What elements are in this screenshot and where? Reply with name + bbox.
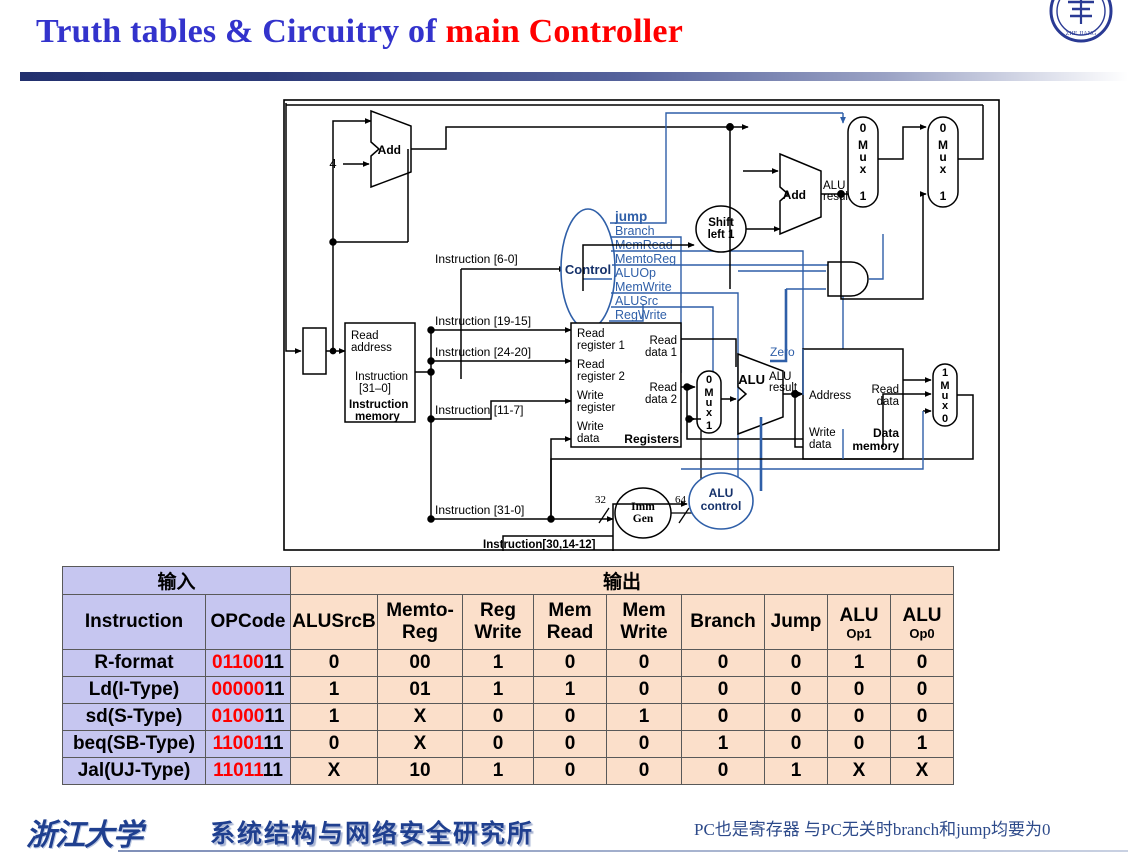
wb-mux-port-1: 1	[942, 367, 948, 379]
cell-aluop1: X	[828, 758, 891, 785]
alu-zero-label: Zero	[770, 345, 795, 359]
opcode-black: 11	[264, 706, 284, 727]
alu-label: ALU	[738, 372, 765, 387]
cell-memwrite: 1	[607, 704, 682, 731]
cell-memtoreg: 10	[378, 758, 463, 785]
opcode-red: 11001	[213, 733, 264, 754]
cell-memtoreg: X	[378, 731, 463, 758]
cell-memread: 0	[534, 650, 607, 677]
cell-memwrite: 0	[607, 677, 682, 704]
cell-jump: 0	[765, 677, 828, 704]
bus-label-instr-31-0: Instruction [31-0]	[435, 503, 524, 517]
cell-instruction: Jal(UJ-Type)	[63, 758, 206, 785]
branch-and-gate	[828, 262, 868, 296]
imm-gen-block: ImmGen	[615, 488, 671, 538]
dmem-address-label: Address	[809, 390, 851, 402]
bus-label-instr-6-0: Instruction [6-0]	[435, 252, 518, 266]
table-group-header-row: 输入 输出	[63, 567, 954, 595]
mux-jump-port-0-label: 0	[940, 121, 947, 135]
dmem-read-data-label: Readdata	[872, 384, 900, 408]
cell-instruction: Ld(I-Type)	[63, 677, 206, 704]
constant-four-label: 4	[329, 156, 336, 171]
page-title-highlight: main Controller	[445, 13, 683, 50]
svg-text:ZHE JIANG: ZHE JIANG	[1066, 31, 1097, 37]
zhejiang-university-seal-icon: ZHE JIANG	[1048, 0, 1114, 44]
alusrc-mux-port-1: 1	[706, 420, 712, 432]
signal-memtoreg: MemtoReg	[615, 252, 676, 266]
table-row: beq(SB-Type) 1100111 0 X 0 0 0 1 0 0 1	[63, 731, 954, 758]
aluop0-main: ALU	[902, 605, 941, 626]
cell-aluop0: 1	[891, 731, 954, 758]
col-header-regwrite: RegWrite	[463, 595, 534, 650]
cell-memread: 0	[534, 704, 607, 731]
col-header-aluop1: ALU Op1	[828, 595, 891, 650]
cell-memwrite: 0	[607, 731, 682, 758]
cell-aluop1: 1	[828, 650, 891, 677]
wb-mux-port-0: 0	[942, 413, 948, 425]
col-header-alusrcb: ALUSrcB	[291, 595, 378, 650]
page-title-part1: Truth tables & Circuitry of	[36, 13, 445, 50]
imem-label: Instructionmemory	[349, 399, 408, 423]
table-column-header-row: Instruction OPCode ALUSrcB Memto-Reg Reg…	[63, 595, 954, 650]
mux-port-1-label: 1	[860, 189, 867, 203]
datapath-diagram: Add 4 Readaddress Instruction[31–0] Inst…	[283, 99, 1000, 551]
cell-jump: 0	[765, 704, 828, 731]
bus-label-instr-24-20: Instruction [24-20]	[435, 345, 531, 359]
mux-port-0-label: 0	[860, 121, 867, 135]
cell-memtoreg: 00	[378, 650, 463, 677]
cell-branch: 0	[682, 758, 765, 785]
cell-aluop0: 0	[891, 650, 954, 677]
slide-root: Truth tables & Circuitry of main Control…	[0, 0, 1128, 854]
institute-name: 系统结构与网络安全研究所	[210, 814, 534, 850]
cell-aluop0: 0	[891, 704, 954, 731]
cell-alusrcb: X	[291, 758, 378, 785]
opcode-black: 11	[263, 760, 283, 781]
control-block: Control	[561, 209, 615, 329]
title-divider	[20, 72, 1128, 81]
register-file-block: Readregister 1 Readregister 2 Writeregis…	[571, 323, 681, 447]
slide-footer: 浙江大学 系统结构与网络安全研究所 PC也是寄存器 与PC无关时branch和j…	[0, 806, 1128, 854]
col-header-branch: Branch	[682, 595, 765, 650]
aluop0-sub: Op0	[891, 627, 953, 640]
col-header-memread: MemRead	[534, 595, 607, 650]
cell-branch: 0	[682, 677, 765, 704]
signal-aluop: ALUOp	[615, 266, 656, 280]
alu-control-block: ALUcontrol	[689, 473, 753, 529]
cell-memread: 0	[534, 758, 607, 785]
cell-regwrite: 1	[463, 677, 534, 704]
cell-aluop1: 0	[828, 677, 891, 704]
table-row: Jal(UJ-Type) 1101111 X 10 1 0 0 0 1 X X	[63, 758, 954, 785]
cell-alusrcb: 0	[291, 650, 378, 677]
aluop1-main: ALU	[839, 605, 878, 626]
cell-branch: 0	[682, 704, 765, 731]
opcode-red: 00000	[212, 679, 265, 700]
cell-branch: 1	[682, 731, 765, 758]
opcode-black: 11	[264, 679, 284, 700]
alusrc-mux-port-0: 0	[706, 374, 712, 386]
footer-note: PC也是寄存器 与PC无关时branch和jump均要为0	[694, 815, 1051, 840]
cell-alusrcb: 0	[291, 731, 378, 758]
cell-instruction: beq(SB-Type)	[63, 731, 206, 758]
opcode-red: 11011	[213, 760, 263, 781]
group-header-input: 输入	[63, 567, 291, 595]
add-branch-label: Add	[783, 188, 806, 202]
cell-memtoreg: X	[378, 704, 463, 731]
cell-aluop0: X	[891, 758, 954, 785]
opcode-red: 01100	[212, 652, 264, 673]
opcode-red: 01000	[212, 706, 265, 727]
cell-instruction: R-format	[63, 650, 206, 677]
cell-aluop1: 0	[828, 704, 891, 731]
cell-alusrcb: 1	[291, 704, 378, 731]
opcode-black: 11	[264, 652, 284, 673]
cell-opcode: 0100011	[206, 704, 291, 731]
shift-left-1-label: Shiftleft 1	[708, 217, 735, 241]
mux-jump-block: 0 Mux 1	[928, 117, 958, 207]
bus-width-32: 32	[595, 494, 606, 506]
signal-jump: jump	[614, 209, 647, 224]
cell-opcode: 1100111	[206, 731, 291, 758]
col-header-memwrite: MemWrite	[607, 595, 682, 650]
table-row: Ld(I-Type) 0000011 1 01 1 1 0 0 0 0 0	[63, 677, 954, 704]
bus-label-instr-30-14-12: Instruction[30,14-12]	[483, 539, 596, 551]
cell-regwrite: 0	[463, 731, 534, 758]
zju-wordmark: 浙江大学	[26, 810, 142, 854]
data-memory-block: Address Readdata Writedata Datamemory	[803, 349, 903, 459]
registers-label: Registers	[624, 432, 679, 446]
cell-aluop1: 0	[828, 731, 891, 758]
title-bar: Truth tables & Circuitry of main Control…	[0, 4, 1060, 60]
cell-branch: 0	[682, 650, 765, 677]
cell-regwrite: 0	[463, 704, 534, 731]
read-data-2-label: Readdata 2	[645, 382, 677, 406]
bus-label-instr-19-15: Instruction [19-15]	[435, 314, 531, 328]
cell-opcode: 0110011	[206, 650, 291, 677]
cell-jump: 0	[765, 650, 828, 677]
instruction-memory-block: Readaddress Instruction[31–0] Instructio…	[345, 323, 415, 423]
control-truth-table: 输入 输出 Instruction OPCode ALUSrcB Memto-R…	[62, 566, 954, 785]
cell-memread: 0	[534, 731, 607, 758]
alu-src-mux-block: 0 Mux 1	[697, 371, 721, 433]
mux-jump-port-1-label: 1	[940, 189, 947, 203]
cell-aluop0: 0	[891, 677, 954, 704]
signal-alusrc: ALUSrc	[615, 294, 658, 308]
col-header-opcode: OPCode	[206, 595, 291, 650]
col-header-jump: Jump	[765, 595, 828, 650]
cell-memwrite: 0	[607, 758, 682, 785]
cell-regwrite: 1	[463, 650, 534, 677]
shift-left-1-block: Shiftleft 1	[696, 206, 746, 252]
col-header-memtoreg: Memto-Reg	[378, 595, 463, 650]
control-label: Control	[565, 262, 611, 277]
cell-jump: 1	[765, 758, 828, 785]
footer-divider	[118, 850, 1128, 852]
group-header-output: 输出	[291, 567, 954, 595]
col-header-aluop0: ALU Op0	[891, 595, 954, 650]
read-data-1-label: Readdata 1	[645, 335, 677, 359]
cell-instruction: sd(S-Type)	[63, 704, 206, 731]
cell-memtoreg: 01	[378, 677, 463, 704]
signal-branch: Branch	[615, 224, 655, 238]
signal-regwrite: RegWrite	[615, 308, 667, 322]
cell-jump: 0	[765, 731, 828, 758]
mux-branch-block: 0 Mux 1	[848, 117, 878, 207]
col-header-instruction: Instruction	[63, 595, 206, 650]
table-body: R-format 0110011 0 00 1 0 0 0 0 1 0 Ld(I…	[63, 650, 954, 785]
bus-label-instr-11-7: Instruction [11-7]	[435, 403, 524, 417]
opcode-black: 11	[263, 733, 283, 754]
cell-regwrite: 1	[463, 758, 534, 785]
cell-opcode: 1101111	[206, 758, 291, 785]
aluop1-sub: Op1	[828, 627, 890, 640]
cell-alusrcb: 1	[291, 677, 378, 704]
add-label: Add	[378, 143, 401, 157]
page-title: Truth tables & Circuitry of main Control…	[36, 10, 683, 54]
table-row: R-format 0110011 0 00 1 0 0 0 0 1 0	[63, 650, 954, 677]
signal-memwrite: MemWrite	[615, 280, 672, 294]
cell-memread: 1	[534, 677, 607, 704]
cell-opcode: 0000011	[206, 677, 291, 704]
cell-memwrite: 0	[607, 650, 682, 677]
table-row: sd(S-Type) 0100011 1 X 0 0 1 0 0 0 0	[63, 704, 954, 731]
